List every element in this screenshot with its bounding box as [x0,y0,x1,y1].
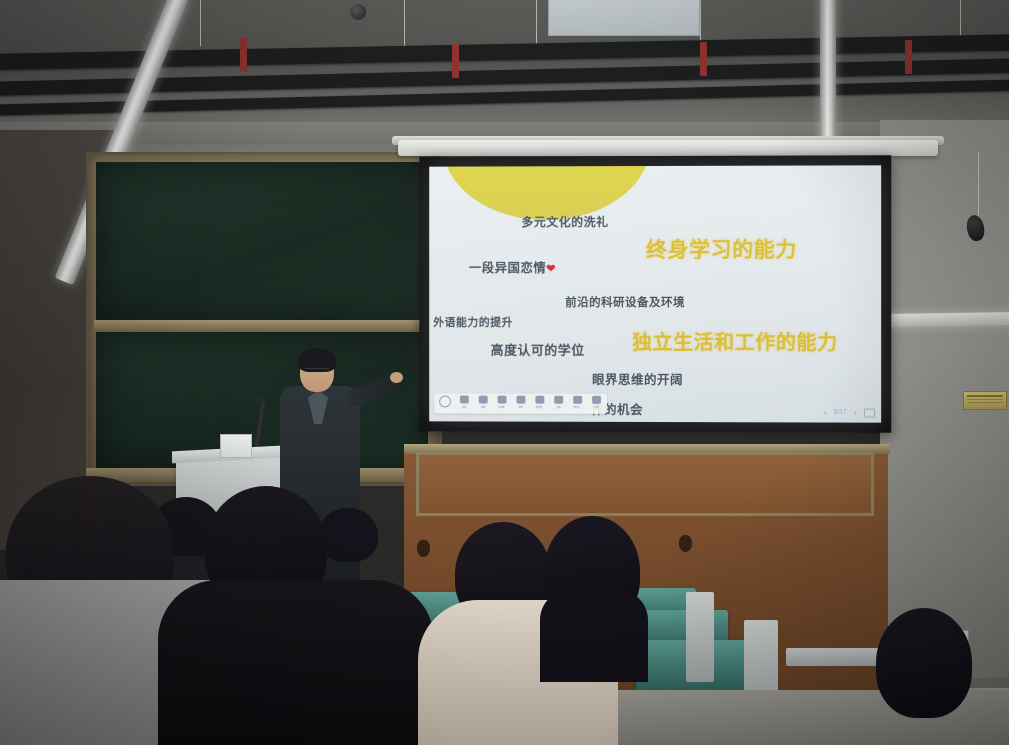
slide-line-5: 高度认可的学位 [491,340,585,359]
slide-navigation[interactable]: ‹ 5/17 › [824,407,875,417]
highlighter-icon[interactable]: 荧光笔 [494,396,510,412]
screen-roller [398,140,938,156]
ceiling-camera-icon [350,4,366,20]
eraser-icon[interactable]: 擦除 [512,396,528,412]
microphone-icon [254,394,264,404]
wall-notice-plaque [963,391,1007,410]
audience-head [876,608,972,718]
audience-hair [540,590,648,682]
slide-line-4: 外语能力的提升 [433,314,513,330]
tray-clamp [905,40,912,74]
ceiling-skylight-panel [548,0,700,36]
lectern-name-card [220,434,252,458]
heart-icon: ❤ [546,263,556,275]
tray-clamp [452,44,459,78]
slide-line-1: 多元文化的洗礼 [521,213,608,230]
chalkboard-rail [94,320,430,332]
laser-icon[interactable]: 激光笔 [531,396,547,412]
next-slide-button[interactable]: › [854,408,857,418]
screen-icon[interactable] [864,408,875,417]
slide-yellow-arc-decoration [443,165,650,220]
hanger-rod [536,0,537,44]
more-icon[interactable]: 更多 [588,396,604,412]
seat-armrest [686,592,714,682]
lecture-hall-photo: 多元文化的洗礼 一段异国恋情❤ 前沿的科研设备及环境 外语能力的提升 高度认可的… [0,0,1009,745]
audience-shoulders [158,580,434,745]
spotlight-icon[interactable]: 聚光灯 [569,396,585,412]
speaker-cord [978,152,979,222]
hanger-rod [404,0,405,52]
prev-slide-button[interactable]: ‹ [824,407,827,417]
slide-line-3: 前沿的科研设备及环境 [565,294,685,310]
presentation-toolbar[interactable]: 选择 画笔 荧光笔 擦除 激光笔 白板 聚光灯 更多 [434,393,607,413]
slide-line-2: 一段异国恋情❤ [469,257,556,276]
hanger-rod [200,0,201,46]
wood-panel-inset [416,452,874,516]
projected-slide: 多元文化的洗礼 一段异国恋情❤ 前沿的科研设备及环境 外语能力的提升 高度认可的… [429,165,881,422]
wall-hook-icon [679,535,692,552]
slide-line-6: 眼界思维的开阔 [592,369,683,388]
menu-circle-icon[interactable] [437,395,453,411]
tray-clamp [240,38,247,72]
whiteboard-icon[interactable]: 白板 [550,396,566,412]
glasses-icon [305,368,329,374]
cursor-icon[interactable]: 选择 [456,396,472,412]
tray-clamp [700,42,707,76]
audience-head [318,508,378,562]
chalkboard-upper-panel [96,162,428,320]
presenter-hand-pointer [390,372,403,383]
slide-highlight-1: 终身学习的能力 [646,234,797,264]
wall-hook-icon [417,540,430,557]
slide-line-2-text: 一段异国恋情 [469,261,546,275]
pen-icon[interactable]: 画笔 [475,396,491,412]
slide-highlight-2: 独立生活和工作的能力 [632,326,838,355]
page-indicator: 5/17 [834,409,847,415]
